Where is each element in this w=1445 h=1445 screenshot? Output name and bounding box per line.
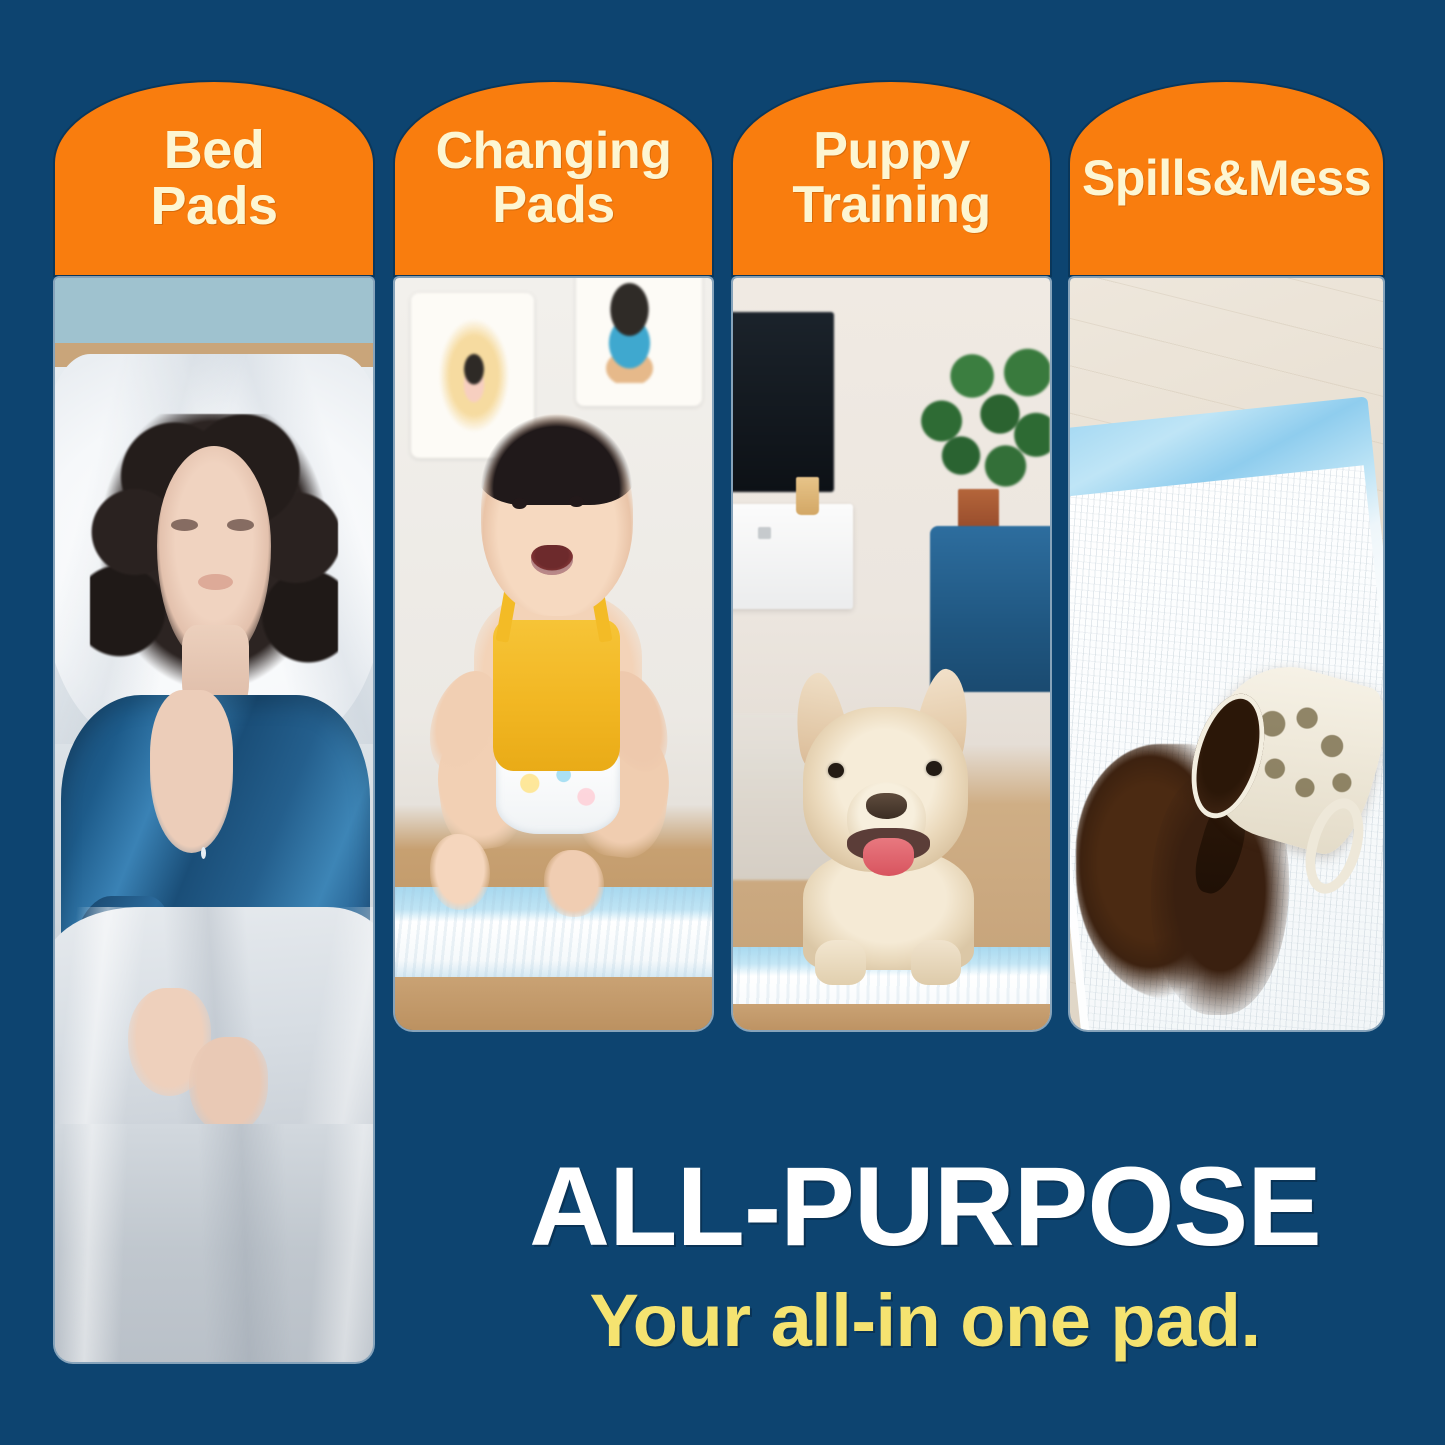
panel-label-puppy-training: PuppyTraining — [786, 125, 996, 231]
panel-photo-bed-pads — [55, 278, 373, 1362]
dog-tongue — [863, 838, 914, 876]
dog-left-eye — [828, 763, 844, 778]
baby-left-eye — [512, 498, 527, 509]
dog-right-eye — [926, 761, 942, 776]
panel-photo-puppy-training — [733, 278, 1050, 1030]
feature-panel-changing-pads: ChangingPads — [395, 82, 712, 1030]
small-vase — [796, 477, 818, 515]
right-hand — [189, 1037, 269, 1135]
house-plant — [911, 331, 1050, 504]
poster-boy-illustration — [595, 278, 665, 383]
baby-yellow-top — [493, 620, 620, 770]
baby-hair — [477, 400, 636, 505]
wood-floor — [395, 977, 712, 1030]
feature-panel-spills-and-mess: Spills&Mess — [1070, 82, 1383, 1030]
left-eye — [171, 519, 198, 531]
panel-label-bed-pads: BedPads — [144, 123, 283, 233]
panel-header-bed-pads: BedPads — [55, 82, 373, 275]
dog-nose — [866, 793, 907, 819]
feature-panel-puppy-training: PuppyTraining — [733, 82, 1050, 1030]
blue-sofa — [930, 526, 1050, 691]
panel-photo-changing-pads — [395, 278, 712, 1030]
headline-block: ALL-PURPOSE Your all-in one pad. — [430, 1150, 1420, 1363]
panel-photo-spills-and-mess — [1070, 278, 1383, 1030]
wood-floor — [733, 1004, 1050, 1030]
television — [733, 312, 834, 492]
panel-label-changing-pads: ChangingPads — [430, 125, 678, 231]
dog-left-paw — [815, 940, 866, 985]
feature-panel-bed-pads: BedPads — [55, 82, 373, 1362]
baby-open-mouth — [531, 545, 572, 575]
product-feature-graphic: BedPads — [0, 0, 1445, 1445]
panel-header-puppy-training: PuppyTraining — [733, 82, 1050, 275]
panel-header-changing-pads: ChangingPads — [395, 82, 712, 275]
panel-label-spills-and-mess: Spills&Mess — [1076, 153, 1377, 204]
headline-main: ALL-PURPOSE — [430, 1150, 1420, 1264]
panel-header-spills-and-mess: Spills&Mess — [1070, 82, 1383, 275]
chest-skin — [150, 690, 233, 853]
bed-sheet — [55, 1124, 373, 1362]
right-eye — [227, 519, 254, 531]
headline-sub: Your all-in one pad. — [430, 1280, 1420, 1363]
baby-left-foot — [430, 834, 490, 909]
dog-right-paw — [911, 940, 962, 985]
baby-right-foot — [544, 850, 604, 918]
tv-cabinet — [733, 504, 853, 609]
